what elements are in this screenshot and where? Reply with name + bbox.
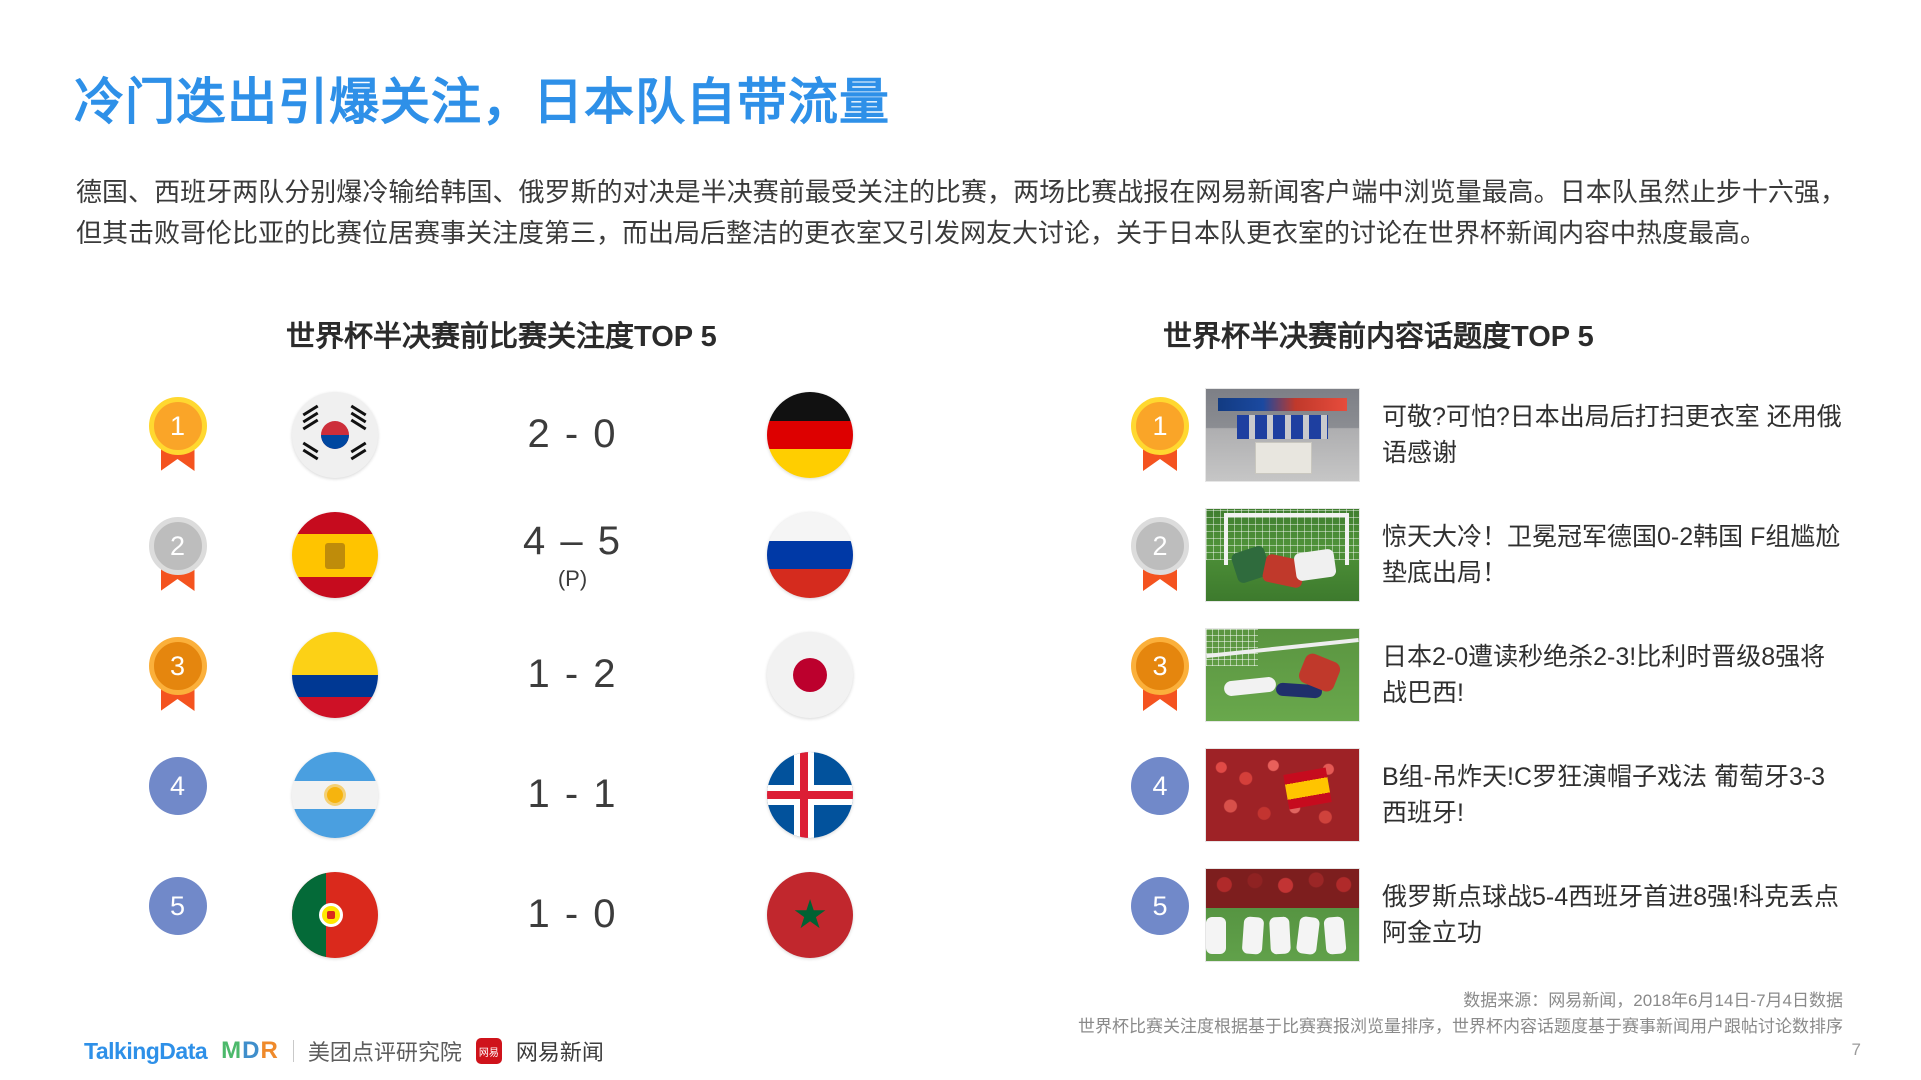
crowd-shape xyxy=(1206,749,1359,841)
data-source-line: 数据来源：网易新闻，2018年6月14日-7月4日数据 xyxy=(1078,988,1843,1014)
news-thumbnail-players-on-ground xyxy=(1205,628,1360,722)
rank-badge-5-icon: 5 xyxy=(1131,877,1189,953)
rank-cell: 1 xyxy=(1115,397,1205,473)
score-cell: 2 - 0 xyxy=(435,412,710,459)
methodology-line: 世界杯比赛关注度根据基于比赛赛报浏览量排序，世界杯内容话题度基于赛事新闻用户跟帖… xyxy=(1078,1014,1843,1040)
flag-band xyxy=(292,697,378,719)
score-value: 2 - 0 xyxy=(527,412,617,457)
news-headline[interactable]: 俄罗斯点球战5-4西班牙首进8强!科克丢点阿金立功 xyxy=(1382,879,1842,951)
list-item[interactable]: 5 俄罗斯点球战5-4西班牙首进8强!科克丢点阿金立功 xyxy=(1115,855,1855,975)
away-flag-cell xyxy=(710,512,910,598)
flag-banner-shape xyxy=(1283,768,1331,810)
table-row: 3 1 - 2 xyxy=(120,615,910,735)
rank-badge-5-icon: 5 xyxy=(149,877,207,953)
player-shape xyxy=(1206,917,1226,954)
medal-bronze-icon: 3 xyxy=(1131,637,1189,713)
mdr-logo: MDR xyxy=(221,1037,279,1065)
rank-cell: 2 xyxy=(120,517,235,593)
logo-bar: TalkingData MDR 美团点评研究院 网易 网易新闻 xyxy=(84,1035,604,1067)
medal-gold-icon: 1 xyxy=(1131,397,1189,473)
score-cell: 1 - 0 xyxy=(435,892,710,939)
home-flag-cell xyxy=(235,632,435,718)
table-row: 1 2 - xyxy=(120,375,910,495)
score-cell: 1 - 1 xyxy=(435,772,710,819)
rank-cell: 2 xyxy=(1115,517,1205,593)
flag-band xyxy=(292,632,378,675)
flag-band xyxy=(767,569,853,598)
flag-japan-icon xyxy=(767,632,853,718)
score-value: 1 - 0 xyxy=(527,892,617,937)
rank-number: 3 xyxy=(149,637,207,695)
news-thumbnail-red-crowd xyxy=(1205,748,1360,842)
rank-cell: 4 xyxy=(1115,757,1205,833)
score-value: 1 - 2 xyxy=(527,652,617,697)
rank-number: 1 xyxy=(1131,397,1189,455)
footnote-block: 数据来源：网易新闻，2018年6月14日-7月4日数据 世界杯比赛关注度根据基于… xyxy=(1078,988,1843,1040)
rank-number: 1 xyxy=(149,397,207,455)
coat-of-arms-shape xyxy=(319,903,343,927)
score-value: 1 - 1 xyxy=(527,772,617,817)
page-number: 7 xyxy=(1852,1040,1861,1060)
score-note: (P) xyxy=(558,566,587,592)
table-row: 5 1 - 0 ★ xyxy=(120,855,910,975)
page-title: 冷门迭出引爆关注，日本队自带流量 xyxy=(74,62,890,134)
news-ranking-list: 1 可敬?可怕?日本出局后打扫更衣室 还用俄语感谢 2 xyxy=(1115,375,1855,975)
news-headline[interactable]: 日本2-0遭读秒绝杀2-3!比利时晋级8强将战巴西! xyxy=(1382,639,1842,711)
left-section-title: 世界杯半决赛前比赛关注度TOP 5 xyxy=(286,313,717,355)
rank-number: 2 xyxy=(1131,517,1189,575)
list-item[interactable]: 1 可敬?可怕?日本出局后打扫更衣室 还用俄语感谢 xyxy=(1115,375,1855,495)
divider xyxy=(293,1040,294,1062)
meituan-research-logo: 美团点评研究院 xyxy=(308,1035,462,1067)
rank-number: 4 xyxy=(149,757,207,815)
player-shape xyxy=(1324,916,1347,954)
flag-spain-icon xyxy=(292,512,378,598)
flag-band xyxy=(767,392,853,421)
away-flag-cell xyxy=(710,632,910,718)
player-shape xyxy=(1224,676,1277,696)
flag-band xyxy=(767,449,853,478)
home-flag-cell xyxy=(235,512,435,598)
score-cell: 1 - 2 xyxy=(435,652,710,699)
flag-south-korea-icon xyxy=(292,392,378,478)
home-flag-cell xyxy=(235,872,435,958)
news-headline[interactable]: 可敬?可怕?日本出局后打扫更衣室 还用俄语感谢 xyxy=(1382,399,1842,471)
rank-cell: 1 xyxy=(120,397,235,473)
flag-colombia-icon xyxy=(292,632,378,718)
flag-band xyxy=(292,675,378,697)
talkingdata-logo: TalkingData xyxy=(84,1038,207,1065)
away-flag-cell: ★ xyxy=(710,872,910,958)
flag-band xyxy=(292,577,378,599)
table-shape xyxy=(1255,442,1312,473)
rank-number: 3 xyxy=(1131,637,1189,695)
goal-net-shape xyxy=(1206,629,1258,666)
player-shape xyxy=(1241,916,1263,954)
flag-argentina-icon xyxy=(292,752,378,838)
player-shape xyxy=(1293,549,1336,582)
mdr-letter-r: R xyxy=(261,1037,279,1064)
netease-news-logo: 网易新闻 xyxy=(516,1035,604,1067)
flag-morocco-icon: ★ xyxy=(767,872,853,958)
rank-badge-4-icon: 4 xyxy=(1131,757,1189,833)
news-thumbnail-goal-scene xyxy=(1205,508,1360,602)
taegeuk-shape xyxy=(321,421,349,449)
flag-band xyxy=(767,541,853,570)
news-thumbnail-locker-room xyxy=(1205,388,1360,482)
rank-cell: 3 xyxy=(120,637,235,713)
home-flag-cell xyxy=(235,752,435,838)
medal-gold-icon: 1 xyxy=(149,397,207,473)
flag-band xyxy=(292,752,378,781)
slide-root: 冷门迭出引爆关注，日本队自带流量 德国、西班牙两队分别爆冷输给韩国、俄罗斯的对决… xyxy=(0,0,1921,1080)
match-ranking-list: 1 2 - xyxy=(120,375,910,975)
list-item[interactable]: 2 惊天大冷！卫冕冠军德国0-2韩国 F组尴尬垫底出局！ xyxy=(1115,495,1855,615)
away-flag-cell xyxy=(710,752,910,838)
flag-band xyxy=(292,809,378,838)
rank-number: 2 xyxy=(149,517,207,575)
player-shape xyxy=(1296,916,1320,955)
rank-cell: 5 xyxy=(120,877,235,953)
rank-number: 5 xyxy=(149,877,207,935)
flag-portugal-icon xyxy=(292,872,378,958)
list-item[interactable]: 3 日本2-0遭读秒绝杀2-3!比利时晋级8强将战巴西! xyxy=(1115,615,1855,735)
medal-silver-icon: 2 xyxy=(149,517,207,593)
list-item[interactable]: 4 B组-吊炸天!C罗狂演帽子戏法 葡萄牙3-3西班牙! xyxy=(1115,735,1855,855)
medal-bronze-icon: 3 xyxy=(149,637,207,713)
away-flag-cell xyxy=(710,392,910,478)
rank-badge-4-icon: 4 xyxy=(149,757,207,833)
flag-band xyxy=(292,512,378,534)
rank-cell: 5 xyxy=(1115,877,1205,953)
home-flag-cell xyxy=(235,392,435,478)
netease-icon: 网易 xyxy=(476,1038,502,1064)
rank-number: 5 xyxy=(1131,877,1189,935)
flag-iceland-icon xyxy=(767,752,853,838)
table-row: 2 4 – 5 (P) xyxy=(120,495,910,615)
player-shape xyxy=(1269,916,1291,954)
coat-of-arms-shape xyxy=(325,543,345,569)
table-row: 4 1 - 1 xyxy=(120,735,910,855)
medal-silver-icon: 2 xyxy=(1131,517,1189,593)
news-thumbnail-celebration xyxy=(1205,868,1360,962)
lead-paragraph: 德国、西班牙两队分别爆冷输给韩国、俄罗斯的对决是半决赛前最受关注的比赛，两场比赛… xyxy=(76,172,1846,254)
mdr-letter-m: M xyxy=(221,1037,242,1064)
flag-band xyxy=(767,512,853,541)
crowd-shape xyxy=(1206,869,1359,908)
news-headline[interactable]: 惊天大冷！卫冕冠军德国0-2韩国 F组尴尬垫底出局！ xyxy=(1382,519,1842,591)
score-value: 4 – 5 xyxy=(523,519,622,564)
news-headline[interactable]: B组-吊炸天!C罗狂演帽子戏法 葡萄牙3-3西班牙! xyxy=(1382,759,1842,831)
cross-shape xyxy=(767,791,853,799)
sun-of-may-shape xyxy=(327,787,343,803)
score-cell: 4 – 5 (P) xyxy=(435,519,710,592)
rank-cell: 3 xyxy=(1115,637,1205,713)
rank-number: 4 xyxy=(1131,757,1189,815)
right-section-title: 世界杯半决赛前内容话题度TOP 5 xyxy=(1163,313,1594,355)
hinomaru-shape xyxy=(793,658,827,692)
flag-russia-icon xyxy=(767,512,853,598)
pentagram-shape: ★ xyxy=(791,896,829,934)
flag-germany-icon xyxy=(767,392,853,478)
flag-band xyxy=(767,421,853,450)
rank-cell: 4 xyxy=(120,757,235,833)
mdr-letter-d: D xyxy=(242,1037,260,1064)
